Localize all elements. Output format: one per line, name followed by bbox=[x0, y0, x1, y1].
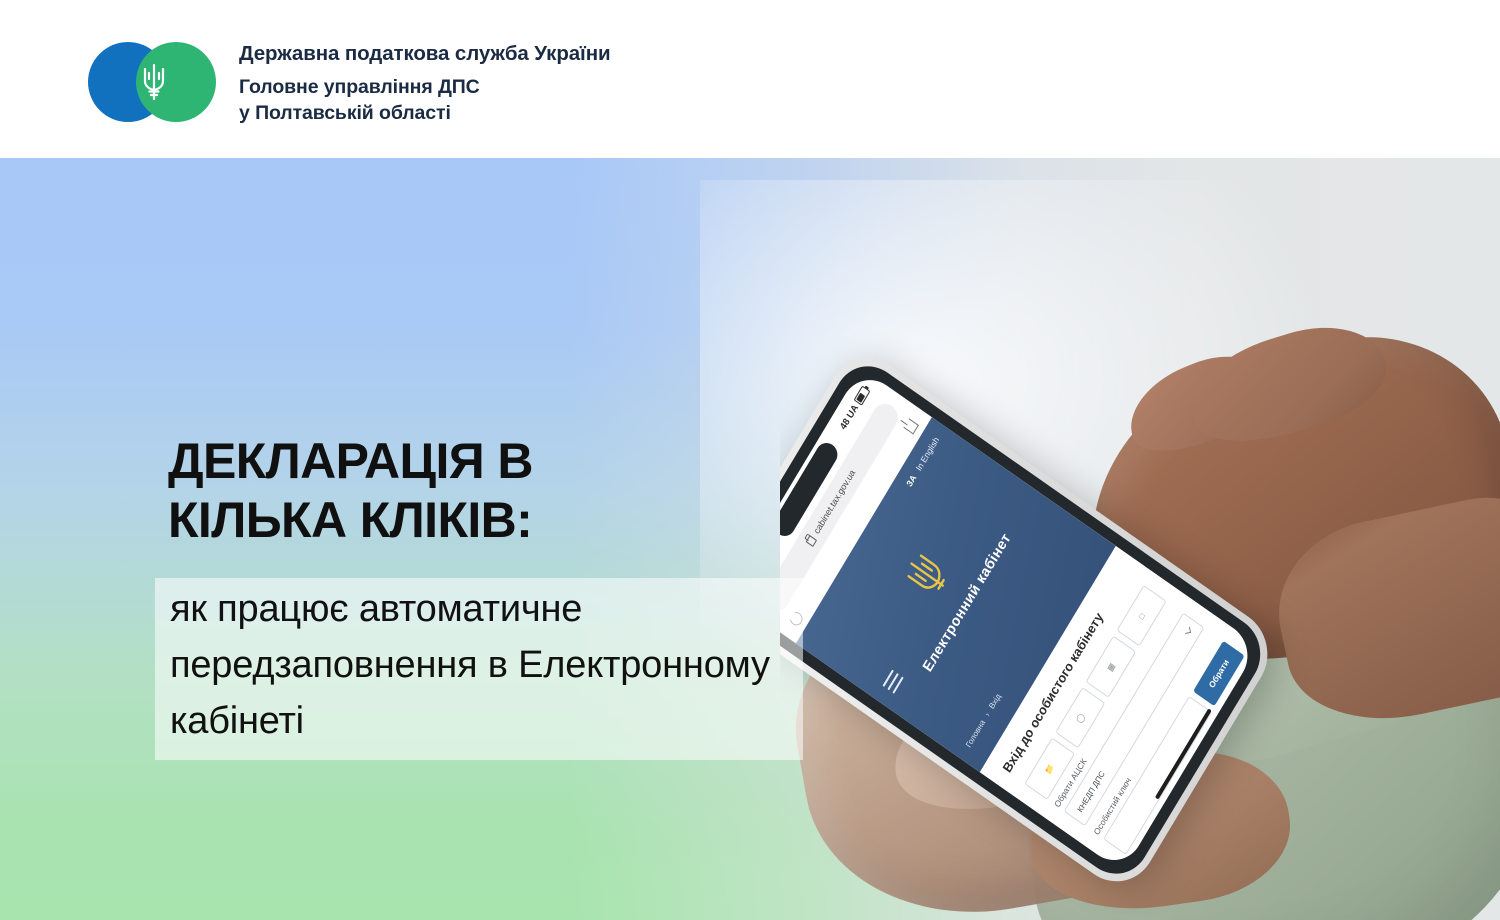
headline-line-2: КІЛЬКА КЛІКІВ: bbox=[168, 491, 533, 550]
breadcrumb: Головна › Вхід bbox=[964, 692, 1003, 749]
site-header: Державна податкова служба України Головн… bbox=[0, 0, 1500, 158]
share-icon[interactable] bbox=[903, 418, 919, 434]
org-title-sub1: Головне управління ДПС bbox=[239, 75, 879, 101]
method-more-icon[interactable]: □ bbox=[1116, 585, 1167, 647]
org-title-main: Державна податкова служба України bbox=[239, 41, 879, 67]
banner-root: Державна податкова служба України Головн… bbox=[0, 0, 1500, 920]
lang-en[interactable]: In English bbox=[914, 435, 941, 473]
breadcrumb-separator-icon: › bbox=[983, 711, 992, 718]
lock-icon bbox=[805, 534, 817, 546]
page-title: ДЕКЛАРАЦІЯ В КІЛЬКА КЛІКІВ: bbox=[168, 432, 533, 550]
chevron-down-icon bbox=[1184, 627, 1191, 634]
dps-logo bbox=[88, 42, 216, 122]
carrier-label: 48 UA bbox=[838, 402, 861, 431]
method-token-icon[interactable]: ◯ bbox=[1055, 687, 1106, 749]
method-card-icon[interactable]: ▦ bbox=[1086, 636, 1137, 698]
lang-ua[interactable]: ЗА bbox=[904, 473, 918, 489]
site-title: Електронний кабінет bbox=[893, 485, 1042, 720]
photo-hands-holding-phone: 16:02 48 UA cabinet.tax.gov.ua bbox=[780, 158, 1500, 920]
org-title-sub2: у Полтавській області bbox=[239, 101, 879, 127]
trident-icon bbox=[88, 42, 168, 122]
org-identity: Державна податкова служба України Головн… bbox=[239, 41, 879, 127]
breadcrumb-current: Вхід bbox=[987, 692, 1002, 711]
battery-icon bbox=[854, 385, 871, 405]
breadcrumb-home[interactable]: Головна bbox=[964, 718, 987, 749]
submit-button[interactable]: Обрати bbox=[1193, 641, 1245, 707]
page-subtitle: як працює автоматичне передзаповнення в … bbox=[170, 582, 800, 750]
trident-gold-icon bbox=[899, 546, 955, 603]
headline-line-1: ДЕКЛАРАЦІЯ В bbox=[168, 432, 533, 491]
